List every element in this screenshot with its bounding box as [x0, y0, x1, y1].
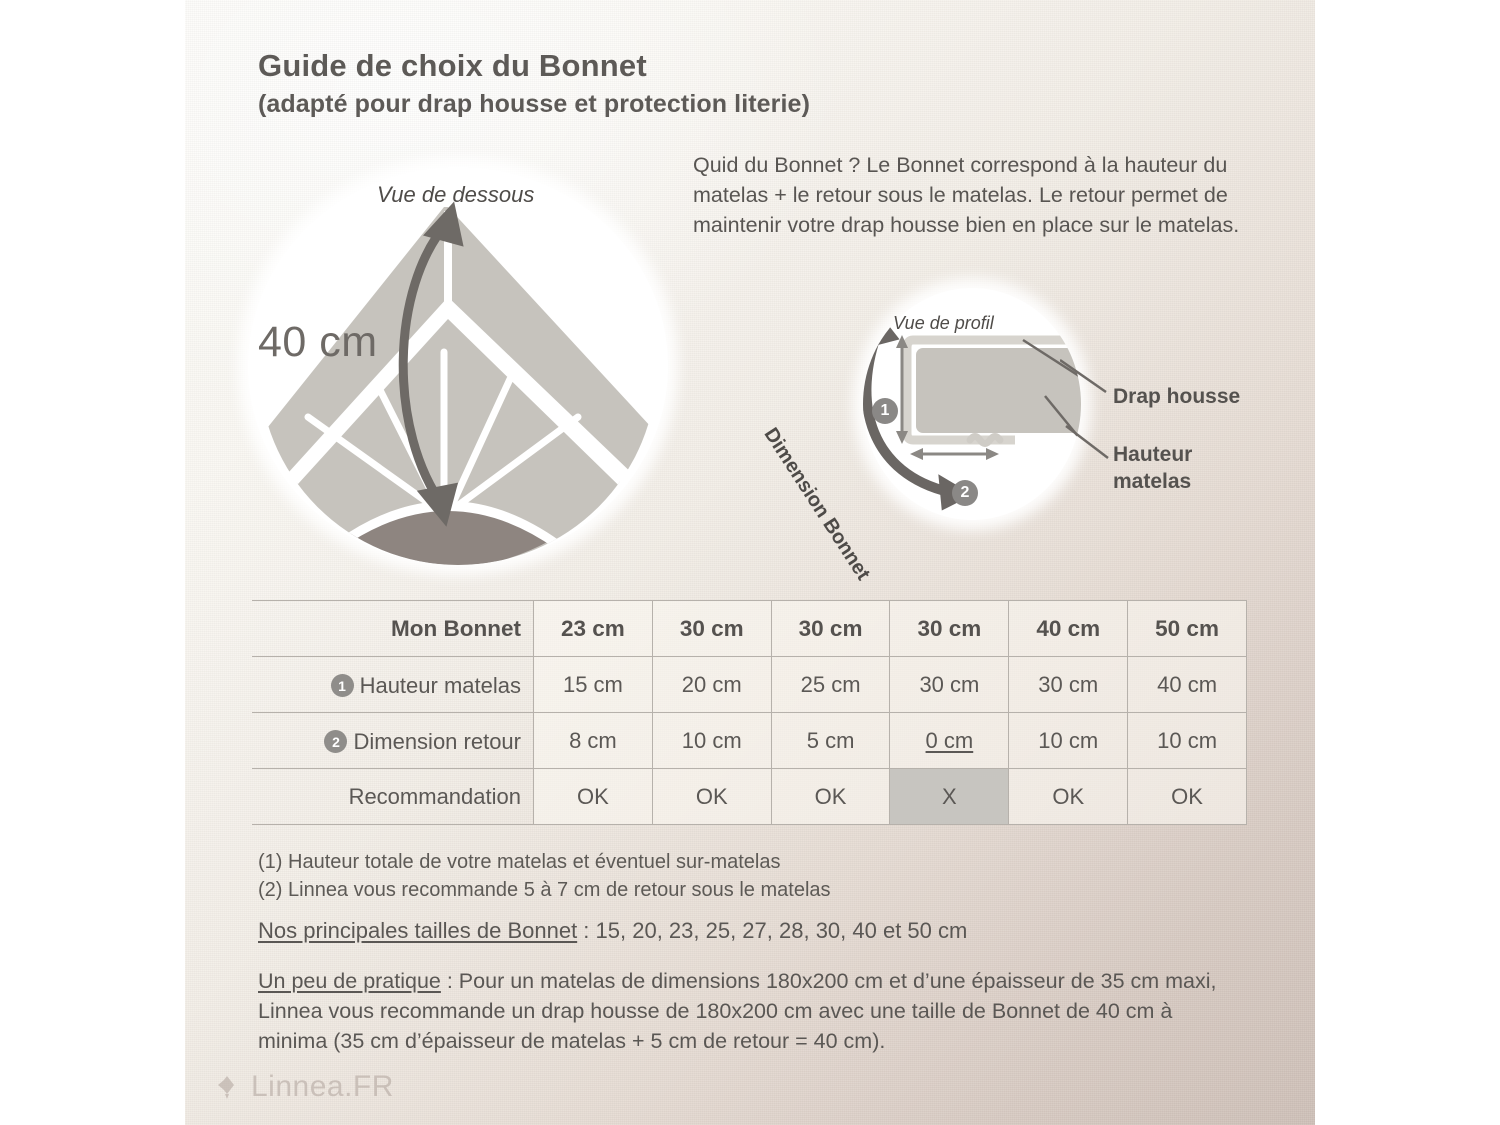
label-hauteur-line2: matelas: [1113, 468, 1192, 495]
table-row-label: Recommandation: [252, 769, 534, 825]
practice-paragraph: Un peu de pratique : Pour un matelas de …: [258, 966, 1238, 1056]
badge-2-diagram: 2: [952, 480, 978, 506]
badge-1-diagram: 1: [872, 398, 898, 424]
table-row: 2 Dimension retour 8 cm 10 cm 5 cm 0 cm …: [252, 713, 1247, 769]
table-header-row-label-text: Mon Bonnet: [391, 616, 521, 641]
table-cell: 10 cm: [1128, 713, 1247, 769]
table-header-row: Mon Bonnet 23 cm 30 cm 30 cm 30 cm 40 cm…: [252, 601, 1247, 657]
table-cell-status-bad: X: [890, 769, 1009, 825]
label-drap-housse: Drap housse: [1113, 383, 1240, 410]
table-cell-status: OK: [1128, 769, 1247, 825]
sizes-line: Nos principales tailles de Bonnet : 15, …: [258, 918, 967, 944]
table-cell-status: OK: [1009, 769, 1128, 825]
table-header-cell: 23 cm: [534, 601, 653, 657]
label-hauteur-matelas: Hauteur matelas: [1113, 441, 1192, 495]
table-header-cell: 30 cm: [890, 601, 1009, 657]
table-header-row-label: Mon Bonnet: [252, 601, 534, 657]
leader-lines-outside: [1060, 330, 1120, 490]
label-hauteur-line1: Hauteur: [1113, 441, 1192, 468]
badge-2-table: 2: [324, 730, 347, 753]
table-cell-zero-value: 0 cm: [926, 728, 974, 753]
table-row-label: 2 Dimension retour: [252, 713, 534, 769]
table-cell: 20 cm: [652, 657, 771, 713]
bonnet-table: Mon Bonnet 23 cm 30 cm 30 cm 30 cm 40 cm…: [252, 600, 1247, 825]
diamond-leaf-icon: [216, 1074, 240, 1100]
table-header-cell: 40 cm: [1009, 601, 1128, 657]
table-header-cell: 50 cm: [1128, 601, 1247, 657]
table-row: Recommandation OK OK OK X OK OK: [252, 769, 1247, 825]
table-cell: 40 cm: [1128, 657, 1247, 713]
sizes-values: : 15, 20, 23, 25, 27, 28, 30, 40 et 50 c…: [577, 918, 967, 943]
table-header-cell: 30 cm: [652, 601, 771, 657]
table-cell: 30 cm: [890, 657, 1009, 713]
measure-return-arrow: [910, 448, 999, 460]
table-row-label-text: Hauteur matelas: [360, 673, 521, 699]
intro-paragraph: Quid du Bonnet ? Le Bonnet correspond à …: [693, 150, 1273, 240]
table-cell: 10 cm: [1009, 713, 1128, 769]
profile-view-label: Vue de profil: [893, 313, 994, 334]
bottom-view-label: Vue de dessous: [377, 182, 534, 208]
table-cell: 10 cm: [652, 713, 771, 769]
practice-label: Un peu de pratique: [258, 969, 441, 993]
linnea-logo-text: Linnea.FR: [251, 1070, 394, 1104]
sizes-label: Nos principales tailles de Bonnet: [258, 918, 577, 943]
table-row: 1 Hauteur matelas 15 cm 20 cm 25 cm 30 c…: [252, 657, 1247, 713]
linnea-logo[interactable]: Linnea.FR: [216, 1070, 394, 1104]
table-cell-status: OK: [771, 769, 890, 825]
bonnet-table-wrapper: Mon Bonnet 23 cm 30 cm 30 cm 30 cm 40 cm…: [252, 600, 1247, 825]
table-cell: 25 cm: [771, 657, 890, 713]
measure-40cm-label: 40 cm: [258, 318, 378, 367]
table-cell: 30 cm: [1009, 657, 1128, 713]
table-cell: 5 cm: [771, 713, 890, 769]
footnote-1: (1) Hauteur totale de votre matelas et é…: [258, 848, 780, 876]
table-row-label: 1 Hauteur matelas: [252, 657, 534, 713]
table-row-label-text: Recommandation: [349, 784, 521, 810]
table-cell-highlighted: 0 cm: [890, 713, 1009, 769]
infographic-canvas: Guide de choix du Bonnet (adapté pour dr…: [0, 0, 1500, 1125]
table-cell: 8 cm: [534, 713, 653, 769]
badge-1-table: 1: [331, 674, 354, 697]
table-cell-status: OK: [534, 769, 653, 825]
table-row-label-text: Dimension retour: [353, 729, 521, 755]
table-header-cell: 30 cm: [771, 601, 890, 657]
table-cell-status: OK: [652, 769, 771, 825]
page-subtitle: (adapté pour drap housse et protection l…: [258, 90, 810, 119]
table-cell: 15 cm: [534, 657, 653, 713]
page-title: Guide de choix du Bonnet: [258, 48, 647, 84]
footnote-2: (2) Linnea vous recommande 5 à 7 cm de r…: [258, 876, 831, 904]
